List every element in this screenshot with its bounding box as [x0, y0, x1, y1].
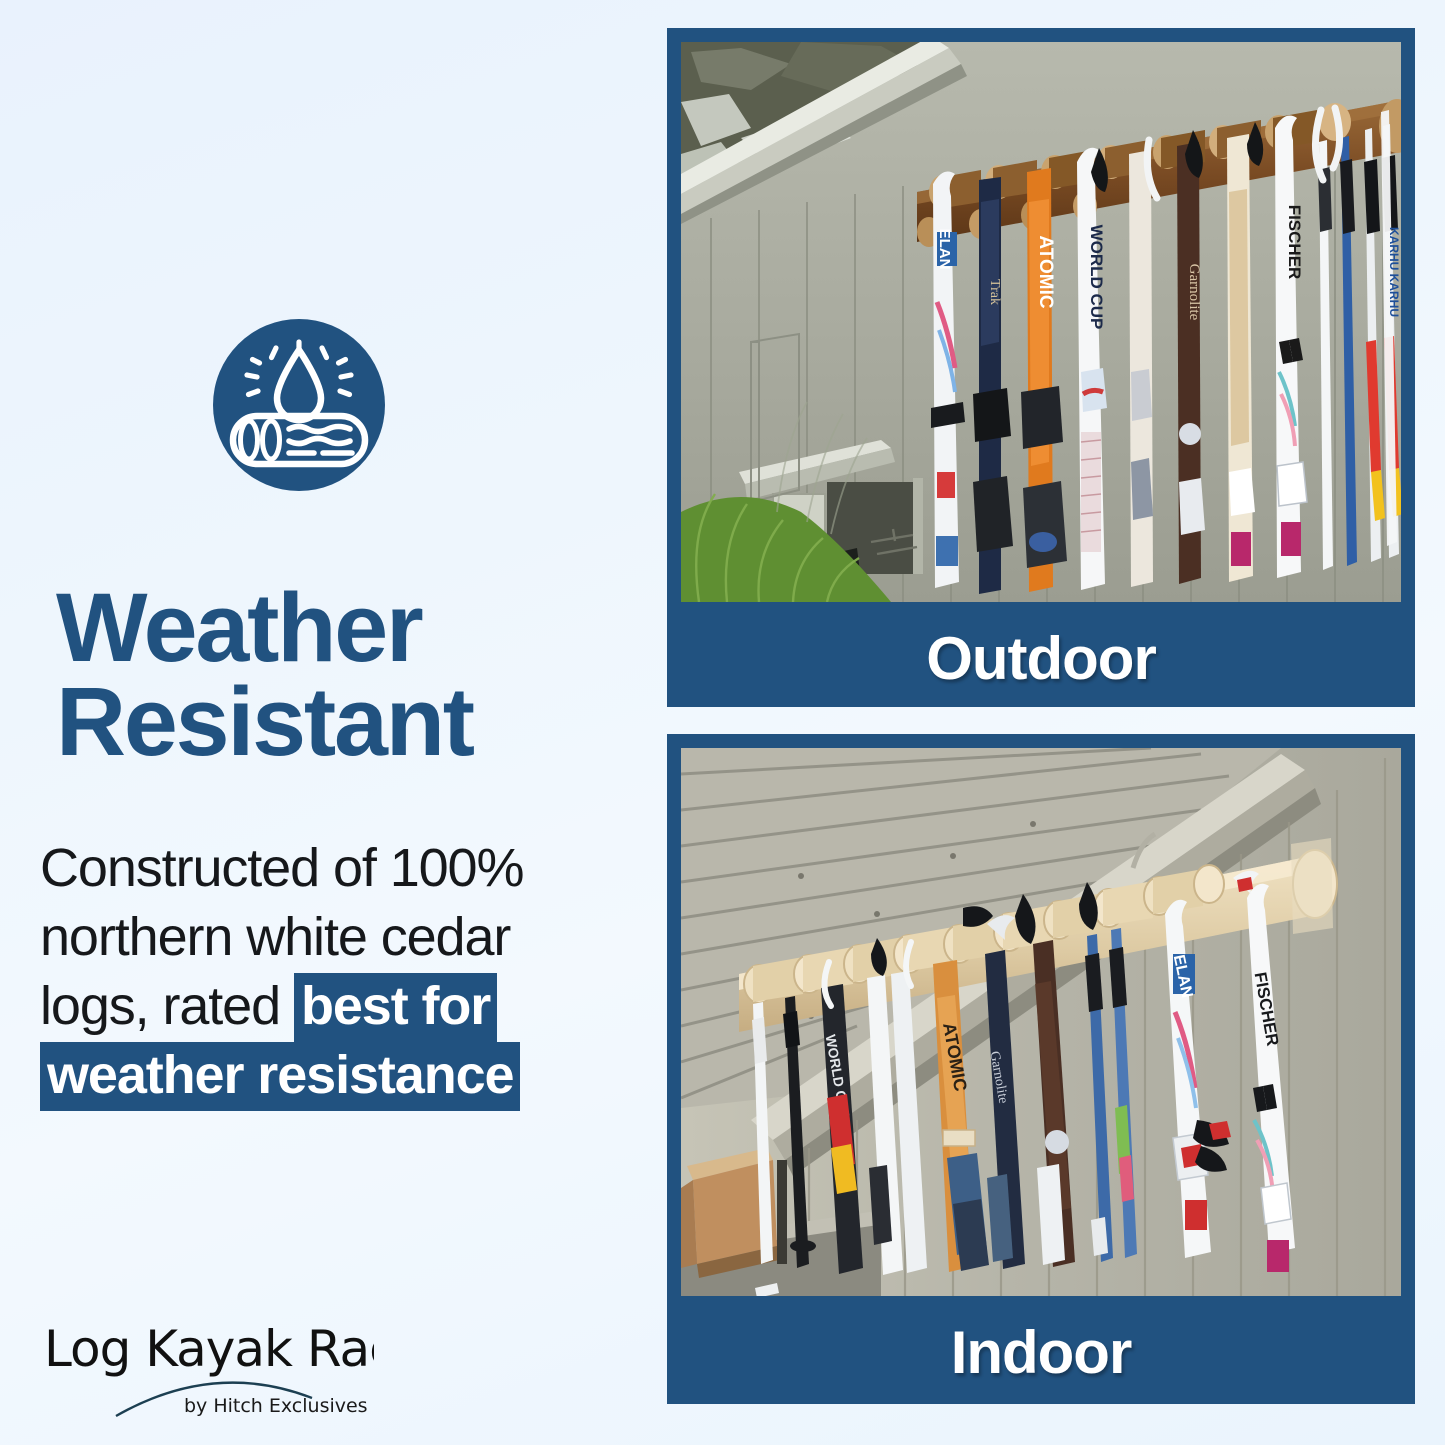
feature-description: Constructed of 100% northern white cedar… — [40, 834, 630, 1110]
indoor-caption: Indoor — [667, 1318, 1415, 1387]
brand-name-text: Log Kayak Rack — [44, 1320, 374, 1378]
page-title: Weather Resistant — [56, 581, 636, 769]
svg-text:KARHU KARHU: KARHU KARHU — [1387, 227, 1401, 317]
outdoor-panel[interactable]: ELAN Trak — [667, 28, 1415, 707]
indoor-panel[interactable]: WORLD CUP ATOMIC — [667, 734, 1415, 1404]
left-content-column: Weather Resistant Constructed of 100% no… — [0, 0, 650, 1445]
svg-text:ATOMIC: ATOMIC — [1035, 235, 1056, 308]
svg-text:WORLD CUP: WORLD CUP — [1087, 225, 1106, 330]
brand-tagline-text: by Hitch Exclusives — [184, 1395, 368, 1417]
headline-line-2: Resistant — [56, 675, 636, 769]
svg-text:Garnolite: Garnolite — [1186, 264, 1202, 321]
svg-text:Trak: Trak — [987, 279, 1002, 305]
headline-line-1: Weather — [56, 581, 636, 675]
indoor-photo: WORLD CUP ATOMIC — [681, 748, 1401, 1296]
brand-logo: Log Kayak Rack by Hitch Exclusives — [44, 1308, 374, 1428]
svg-text:ELAN: ELAN — [936, 229, 953, 270]
log-water-drop-icon — [213, 319, 385, 491]
promo-graphic: Weather Resistant Constructed of 100% no… — [0, 0, 1445, 1445]
outdoor-photo: ELAN Trak — [681, 42, 1401, 602]
outdoor-caption: Outdoor — [667, 624, 1415, 693]
svg-text:FISCHER: FISCHER — [1285, 205, 1304, 280]
